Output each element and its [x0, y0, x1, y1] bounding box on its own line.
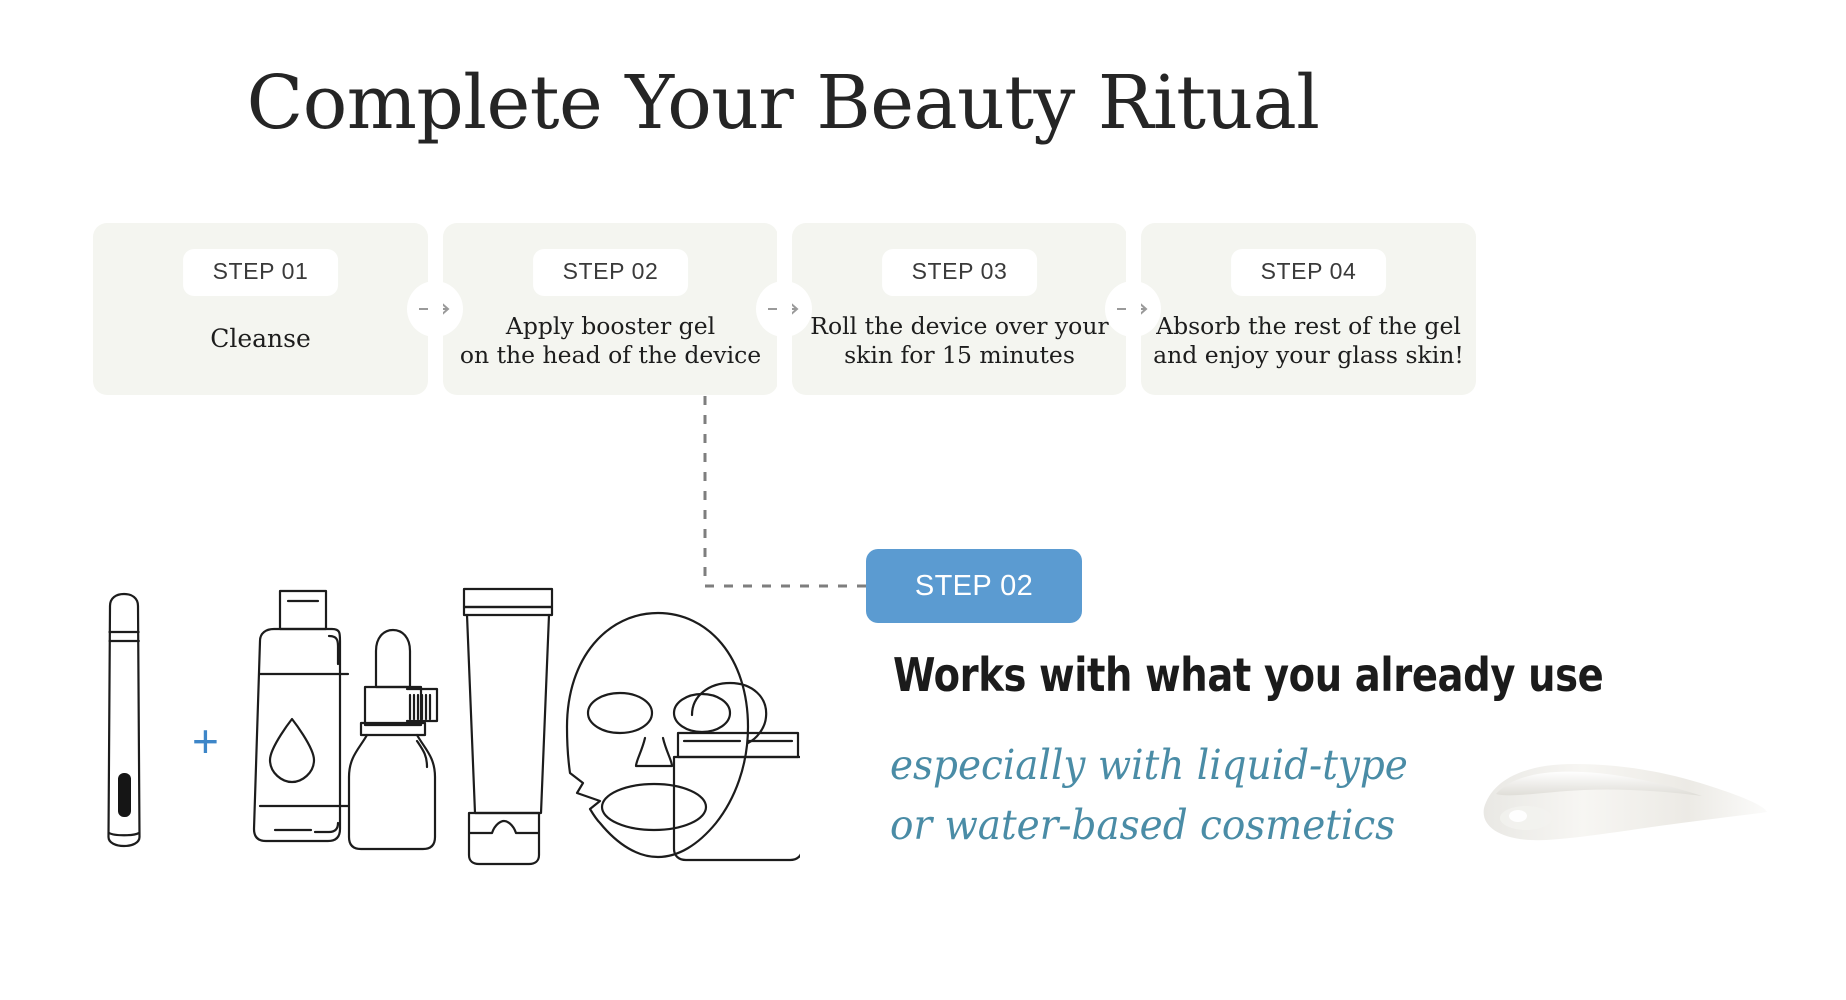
- step-badge-3: STEP 03: [882, 249, 1038, 296]
- plus-symbol: +: [192, 718, 219, 764]
- step-text-3-line1: Roll the device over your: [792, 312, 1127, 341]
- cream-tube-icon: [464, 589, 552, 864]
- callout-subline: especially with liquid-type or water-bas…: [890, 735, 1408, 855]
- step-text-2-line2: on the head of the device: [443, 341, 778, 370]
- beauty-device-wand-icon: [109, 594, 140, 846]
- step-text-3: Roll the device over your skin for 15 mi…: [792, 312, 1127, 370]
- step-text-1: Cleanse: [93, 324, 428, 353]
- card-gap-3: [1126, 221, 1141, 397]
- step-text-2-line1: Apply booster gel: [443, 312, 778, 341]
- cream-jar-icon: [674, 683, 800, 860]
- step-card-3[interactable]: STEP 03 Roll the device over your skin f…: [792, 223, 1127, 395]
- page-title: Complete Your Beauty Ritual: [0, 66, 1566, 140]
- card-gap-2: [777, 221, 792, 397]
- step-text-4-line1: Absorb the rest of the gel: [1141, 312, 1476, 341]
- callout-step-badge[interactable]: STEP 02: [866, 549, 1082, 623]
- dropper-serum-bottle-icon: [349, 630, 437, 849]
- step-text-3-line2: skin for 15 minutes: [792, 341, 1127, 370]
- step-badge-4: STEP 04: [1231, 249, 1387, 296]
- slide-root: Complete Your Beauty Ritual STEP 01 Clea…: [0, 0, 1846, 1000]
- callout-subline-1: especially with liquid-type: [890, 735, 1408, 795]
- step-text-2: Apply booster gel on the head of the dev…: [443, 312, 778, 370]
- step-badge-1: STEP 01: [183, 249, 339, 296]
- step-text-4-line2: and enjoy your glass skin!: [1141, 341, 1476, 370]
- step-card-4[interactable]: STEP 04 Absorb the rest of the gel and e…: [1141, 223, 1476, 395]
- step-card-1[interactable]: STEP 01 Cleanse: [93, 223, 428, 395]
- toner-bottle-icon: [254, 591, 348, 841]
- callout-subline-2: or water-based cosmetics: [890, 795, 1408, 855]
- card-gap-1: [428, 221, 443, 397]
- step-card-2[interactable]: STEP 02 Apply booster gel on the head of…: [443, 223, 778, 395]
- gel-smear-icon: [1478, 752, 1768, 857]
- product-lineup: [80, 585, 800, 885]
- product-lineup-svg: [80, 585, 800, 885]
- step-text-4: Absorb the rest of the gel and enjoy you…: [1141, 312, 1476, 370]
- step-text-1-line1: Cleanse: [93, 324, 428, 353]
- sheet-mask-icon: [567, 613, 748, 857]
- callout-headline: Works with what you already use: [893, 650, 1603, 701]
- step-badge-2: STEP 02: [533, 249, 689, 296]
